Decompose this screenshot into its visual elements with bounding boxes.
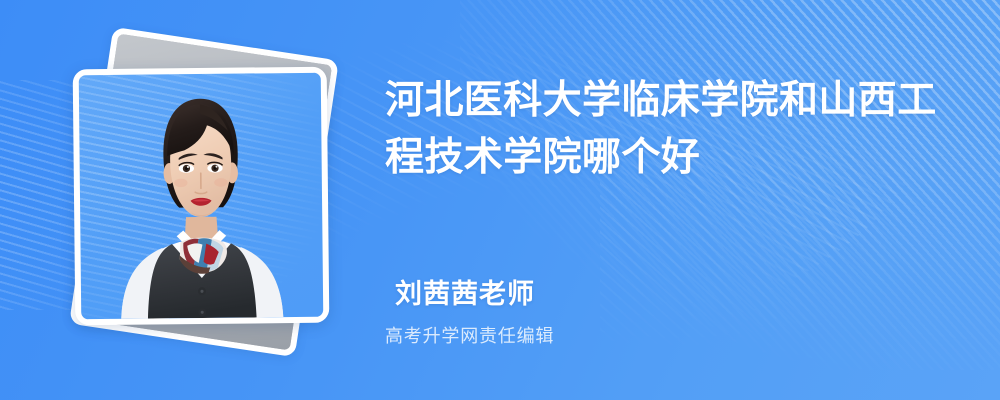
article-banner: 河北医科大学临床学院和山西工程技术学院哪个好 刘茜茜老师 高考升学网责任编辑 bbox=[0, 0, 1000, 400]
page-title: 河北医科大学临床学院和山西工程技术学院哪个好 bbox=[385, 72, 965, 186]
text-column: 河北医科大学临床学院和山西工程技术学院哪个好 刘茜茜老师 高考升学网责任编辑 bbox=[385, 0, 985, 400]
photo-stack bbox=[44, 30, 354, 360]
photo-frame bbox=[73, 67, 330, 326]
portrait-icon bbox=[79, 73, 324, 320]
author-role-label: 高考升学网责任编辑 bbox=[385, 322, 554, 348]
author-name: 刘茜茜老师 bbox=[395, 272, 535, 311]
portrait-photo bbox=[79, 73, 324, 320]
